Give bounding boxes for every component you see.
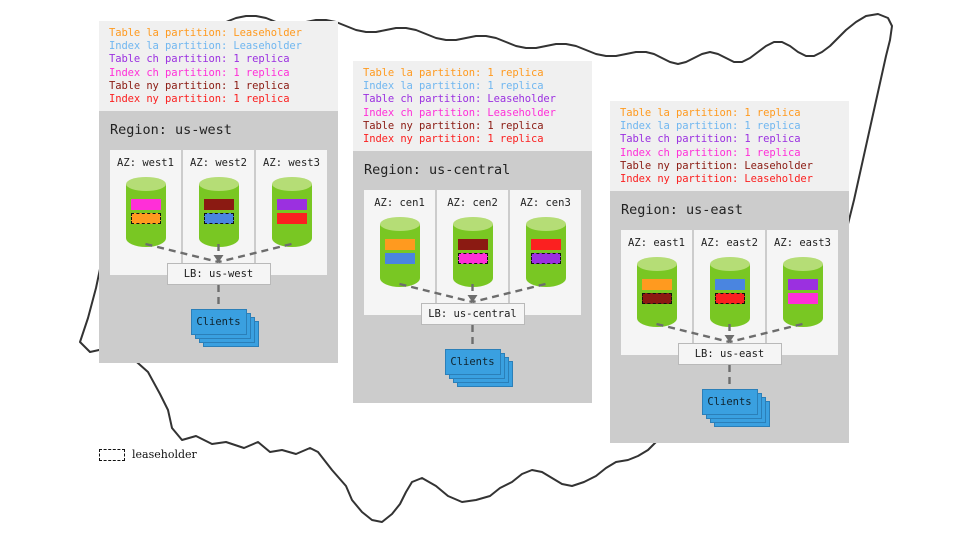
clients-box[interactable]: Clients [702, 389, 758, 415]
clients-stack-us-east[interactable]: Clients [702, 389, 770, 427]
az-label: AZ: east3 [774, 237, 831, 249]
annotation-line: Index ch partition: Leaseholder [363, 107, 582, 120]
az-label: AZ: west2 [190, 157, 247, 169]
annotation-line: Table ny partition: 1 replica [109, 80, 328, 93]
dashed-rectangle-icon [99, 449, 125, 461]
replica-table-ny-replica [204, 199, 234, 210]
annotation-panel-us-east: Table la partition: 1 replica Index la p… [610, 101, 849, 191]
cylinder-top [783, 257, 823, 271]
clients-box[interactable]: Clients [191, 309, 247, 335]
az-panel-west2: AZ: west2 [183, 150, 254, 275]
replica-table-ny-replica [458, 239, 488, 250]
az-label: AZ: east1 [628, 237, 685, 249]
annotation-line: Index la partition: 1 replica [620, 120, 839, 133]
az-label: AZ: cen2 [447, 197, 498, 209]
replica-index-la-replica [715, 279, 745, 290]
database-cylinder [380, 217, 420, 289]
database-cylinder [126, 177, 166, 249]
load-balancer-us-west[interactable]: LB: us-west [167, 263, 271, 285]
annotation-line: Index ny partition: Leaseholder [620, 173, 839, 186]
annotation-line: Index ny partition: 1 replica [109, 93, 328, 106]
az-panel-east1: AZ: east1 [621, 230, 692, 355]
database-cylinder [637, 257, 677, 329]
annotation-line: Table ny partition: Leaseholder [620, 160, 839, 173]
replica-table-ch-replica [277, 199, 307, 210]
replica-index-ch-replica [131, 199, 161, 210]
replica-index-ny-replica [277, 213, 307, 224]
replica-index-la-replica [385, 253, 415, 264]
cylinder-top [199, 177, 239, 191]
replica-index-ny-leaseholder [715, 293, 745, 304]
annotation-line: Table ch partition: 1 replica [109, 53, 328, 66]
az-label: AZ: west1 [117, 157, 174, 169]
replica-index-ch-replica [788, 293, 818, 304]
annotation-line: Index ny partition: 1 replica [363, 133, 582, 146]
az-panel-west1: AZ: west1 [110, 150, 181, 275]
region-title: Region: us-west [110, 122, 232, 138]
cylinder-top [453, 217, 493, 231]
database-cylinder [453, 217, 493, 289]
replica-table-ch-replica [788, 279, 818, 290]
annotation-line: Index la partition: 1 replica [363, 80, 582, 93]
load-balancer-us-central[interactable]: LB: us-central [421, 303, 525, 325]
replica-table-la-replica [385, 239, 415, 250]
replica-table-ch-leaseholder [531, 253, 561, 264]
az-strip: AZ: west1AZ: west2AZ: west3 [110, 150, 327, 275]
database-cylinder [710, 257, 750, 329]
cylinder-top [710, 257, 750, 271]
database-cylinder [526, 217, 566, 289]
cylinder-top [380, 217, 420, 231]
az-panel-east3: AZ: east3 [767, 230, 838, 355]
replica-table-la-replica [642, 279, 672, 290]
annotation-panel-us-west: Table la partition: Leaseholder Index la… [99, 21, 338, 111]
replica-table-la-leaseholder [131, 213, 161, 224]
cylinder-top [637, 257, 677, 271]
clients-stack-us-west[interactable]: Clients [191, 309, 259, 347]
region-panel-us-west: Region: us-westAZ: west1AZ: west2AZ: wes… [99, 111, 338, 363]
annotation-line: Index ch partition: 1 replica [109, 67, 328, 80]
annotation-line: Table ch partition: 1 replica [620, 133, 839, 146]
annotation-line: Table la partition: Leaseholder [109, 27, 328, 40]
replica-index-ch-leaseholder [458, 253, 488, 264]
az-panel-west3: AZ: west3 [256, 150, 327, 275]
diagram-canvas: Table la partition: Leaseholder Index la… [0, 0, 960, 540]
region-title: Region: us-east [621, 202, 743, 218]
az-panel-cen2: AZ: cen2 [437, 190, 508, 315]
annotation-line: Table ny partition: 1 replica [363, 120, 582, 133]
az-strip: AZ: cen1AZ: cen2AZ: cen3 [364, 190, 581, 315]
replica-index-ny-replica [531, 239, 561, 250]
annotation-line: Table la partition: 1 replica [620, 107, 839, 120]
az-panel-east2: AZ: east2 [694, 230, 765, 355]
annotation-panel-us-central: Table la partition: 1 replica Index la p… [353, 61, 592, 151]
database-cylinder [199, 177, 239, 249]
load-balancer-us-east[interactable]: LB: us-east [678, 343, 782, 365]
region-panel-us-central: Region: us-centralAZ: cen1AZ: cen2AZ: ce… [353, 151, 592, 403]
az-label: AZ: cen3 [520, 197, 571, 209]
annotation-line: Index la partition: Leaseholder [109, 40, 328, 53]
region-panel-us-east: Region: us-eastAZ: east1AZ: east2AZ: eas… [610, 191, 849, 443]
az-panel-cen3: AZ: cen3 [510, 190, 581, 315]
clients-box[interactable]: Clients [445, 349, 501, 375]
database-cylinder [272, 177, 312, 249]
az-panel-cen1: AZ: cen1 [364, 190, 435, 315]
az-label: AZ: west3 [263, 157, 320, 169]
leaseholder-legend: leaseholder [99, 448, 197, 461]
database-cylinder [783, 257, 823, 329]
az-label: AZ: east2 [701, 237, 758, 249]
region-title: Region: us-central [364, 162, 510, 178]
clients-stack-us-central[interactable]: Clients [445, 349, 513, 387]
cylinder-top [272, 177, 312, 191]
replica-index-la-leaseholder [204, 213, 234, 224]
annotation-line: Index ch partition: 1 replica [620, 147, 839, 160]
az-label: AZ: cen1 [374, 197, 425, 209]
replica-table-ny-leaseholder [642, 293, 672, 304]
az-strip: AZ: east1AZ: east2AZ: east3 [621, 230, 838, 355]
legend-label: leaseholder [132, 448, 197, 461]
cylinder-top [526, 217, 566, 231]
cylinder-top [126, 177, 166, 191]
annotation-line: Table la partition: 1 replica [363, 67, 582, 80]
annotation-line: Table ch partition: Leaseholder [363, 93, 582, 106]
